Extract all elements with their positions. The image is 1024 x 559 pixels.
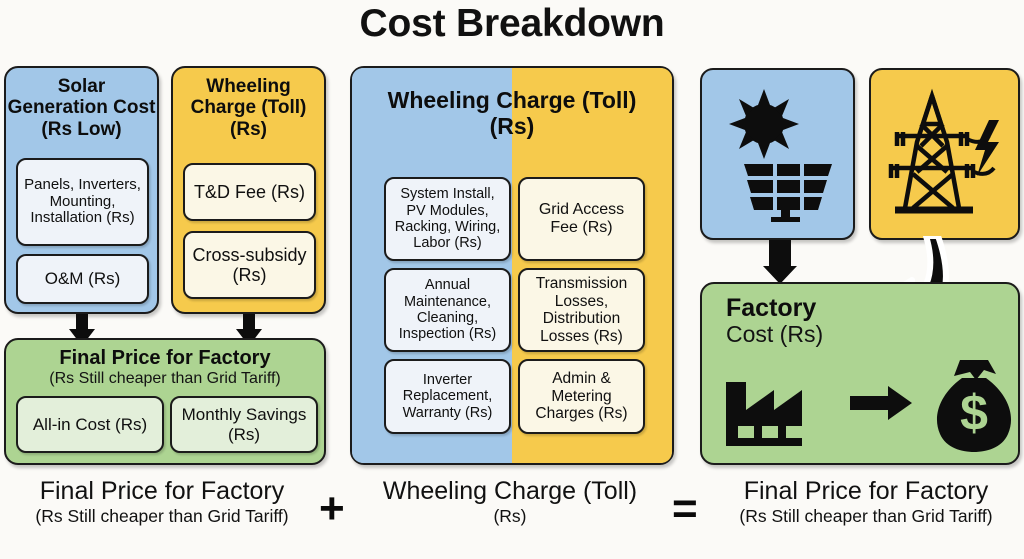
equation-term-3-sub: (Rs Still cheaper than Grid Tariff) <box>716 506 1016 526</box>
wheeling-small-subheading: (Rs) <box>173 119 324 140</box>
final-price-heading: Final Price for Factory <box>6 347 324 369</box>
money-bag-dollar-icon: $ <box>930 356 1016 454</box>
wheeling-charge-small-panel: Wheeling Charge (Toll) (Rs) T&D Fee (Rs)… <box>171 66 326 314</box>
wheeling-small-item-1[interactable]: Cross-subsidy (Rs) <box>183 231 316 299</box>
wheeling-small-item-0[interactable]: T&D Fee (Rs) <box>183 163 316 221</box>
right-arrow-icon <box>850 386 912 420</box>
equation-term-3: Final Price for Factory (Rs Still cheape… <box>716 478 1016 526</box>
wheeling-detail-heading: Wheeling Charge (Toll) <box>352 88 672 114</box>
wheeling-detail-right-item-0[interactable]: Grid Access Fee (Rs) <box>518 177 645 261</box>
equation-equals-operator: = <box>672 487 698 531</box>
final-price-subheading: (Rs Still cheaper than Grid Tariff) <box>6 370 324 388</box>
final-price-item-0[interactable]: All-in Cost (Rs) <box>16 396 164 453</box>
solar-panel-item-1[interactable]: O&M (Rs) <box>16 254 149 304</box>
wheeling-charge-detail-panel: Wheeling Charge (Toll) (Rs) System Insta… <box>350 66 674 465</box>
solar-panel-subheading: (Rs Low) <box>6 119 157 140</box>
wheeling-detail-left-item-0[interactable]: System Install, PV Modules, Racking, Wir… <box>384 177 511 261</box>
solar-panel-sun-icon <box>718 87 838 222</box>
transmission-tower-lightning-icon <box>877 84 1012 224</box>
cost-breakdown-infographic: Cost Breakdown Solar Generation Cost (Rs… <box>0 0 1024 559</box>
wheeling-detail-subheading: (Rs) <box>352 114 672 140</box>
wheeling-small-heading-line2: Charge (Toll) <box>173 97 324 118</box>
final-price-panel: Final Price for Factory (Rs Still cheape… <box>4 338 326 465</box>
equation-term-2: Wheeling Charge (Toll) (Rs) <box>358 478 662 526</box>
factory-panel-subheading: Cost (Rs) <box>702 322 1018 348</box>
solar-panel-item-0[interactable]: Panels, Inverters, Mounting, Installatio… <box>16 158 149 246</box>
equation-term-1-sub: (Rs Still cheaper than Grid Tariff) <box>12 506 312 526</box>
solar-panel-heading-line2: Generation Cost <box>6 97 157 118</box>
wheeling-detail-right-item-2[interactable]: Admin & Metering Charges (Rs) <box>518 359 645 434</box>
wheeling-small-heading-line1: Wheeling <box>173 76 324 97</box>
equation-term-1-main: Final Price for Factory <box>12 478 312 506</box>
solar-generation-cost-panel: Solar Generation Cost (Rs Low) Panels, I… <box>4 66 159 314</box>
factory-cost-panel: Factory Cost (Rs) <box>700 282 1020 465</box>
equation-term-3-main: Final Price for Factory <box>716 478 1016 506</box>
solar-icon-box <box>700 68 855 240</box>
wheeling-detail-left-item-1[interactable]: Annual Maintenance, Cleaning, Inspection… <box>384 268 511 352</box>
equation-term-1: Final Price for Factory (Rs Still cheape… <box>12 478 312 526</box>
page-title: Cost Breakdown <box>0 2 1024 46</box>
factory-panel-heading: Factory <box>702 294 1018 322</box>
equation-plus-operator: + <box>319 487 345 531</box>
equation-term-2-sub: (Rs) <box>358 506 662 526</box>
factory-icon <box>724 364 824 446</box>
wheeling-detail-right-item-1[interactable]: Transmission Losses, Distribution Losses… <box>518 268 645 352</box>
solar-panel-heading-line1: Solar <box>6 76 157 97</box>
arrow-down-right-solar-icon <box>763 240 797 284</box>
wheeling-detail-left-item-2[interactable]: Inverter Replacement, Warranty (Rs) <box>384 359 511 434</box>
svg-text:$: $ <box>960 385 988 441</box>
grid-icon-box <box>869 68 1020 240</box>
final-price-item-1[interactable]: Monthly Savings (Rs) <box>170 396 318 453</box>
equation-term-2-main: Wheeling Charge (Toll) <box>358 478 662 506</box>
